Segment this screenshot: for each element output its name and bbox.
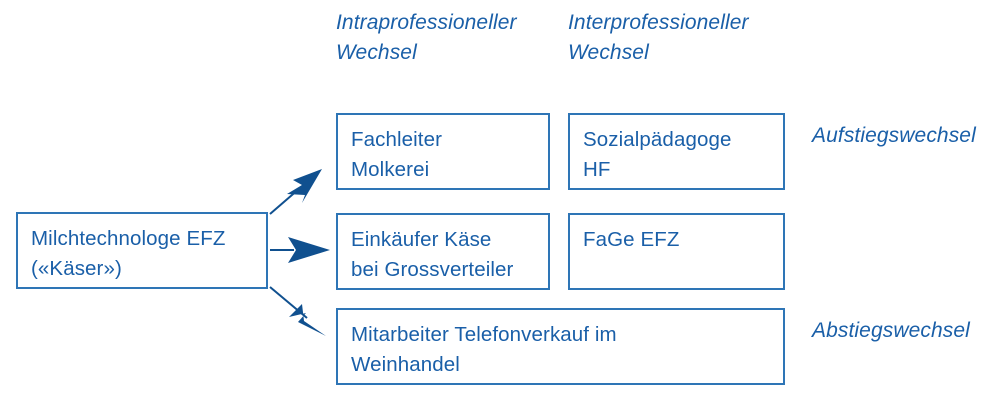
side-label-aufstiegswechsel: Aufstiegswechsel: [812, 122, 976, 150]
side-label-abstiegswechsel: Abstiegswechsel: [812, 317, 970, 345]
arrow-up-icon: [270, 169, 322, 214]
column-header-intraprofessional: Intraprofessioneller Wechsel: [336, 8, 551, 68]
column-header-interprofessional: Interprofessioneller Wechsel: [568, 8, 783, 68]
diagram-canvas: Intraprofessioneller Wechsel Interprofes…: [0, 0, 1000, 408]
node-row1-interprofessional: Sozialpädagoge HF: [568, 113, 785, 190]
arrow-down-icon: [270, 287, 326, 336]
node-row1-intraprofessional: Fachleiter Molkerei: [336, 113, 550, 190]
node-row2-intraprofessional: Einkäufer Käse bei Grossverteiler: [336, 213, 550, 290]
source-node-milchtechnologe: Milchtechnologe EFZ («Käser»): [16, 212, 268, 289]
node-row3-wide: Mitarbeiter Telefonverkauf im Weinhandel: [336, 308, 785, 385]
arrow-horizontal-icon: [270, 237, 330, 263]
node-row2-interprofessional: FaGe EFZ: [568, 213, 785, 290]
